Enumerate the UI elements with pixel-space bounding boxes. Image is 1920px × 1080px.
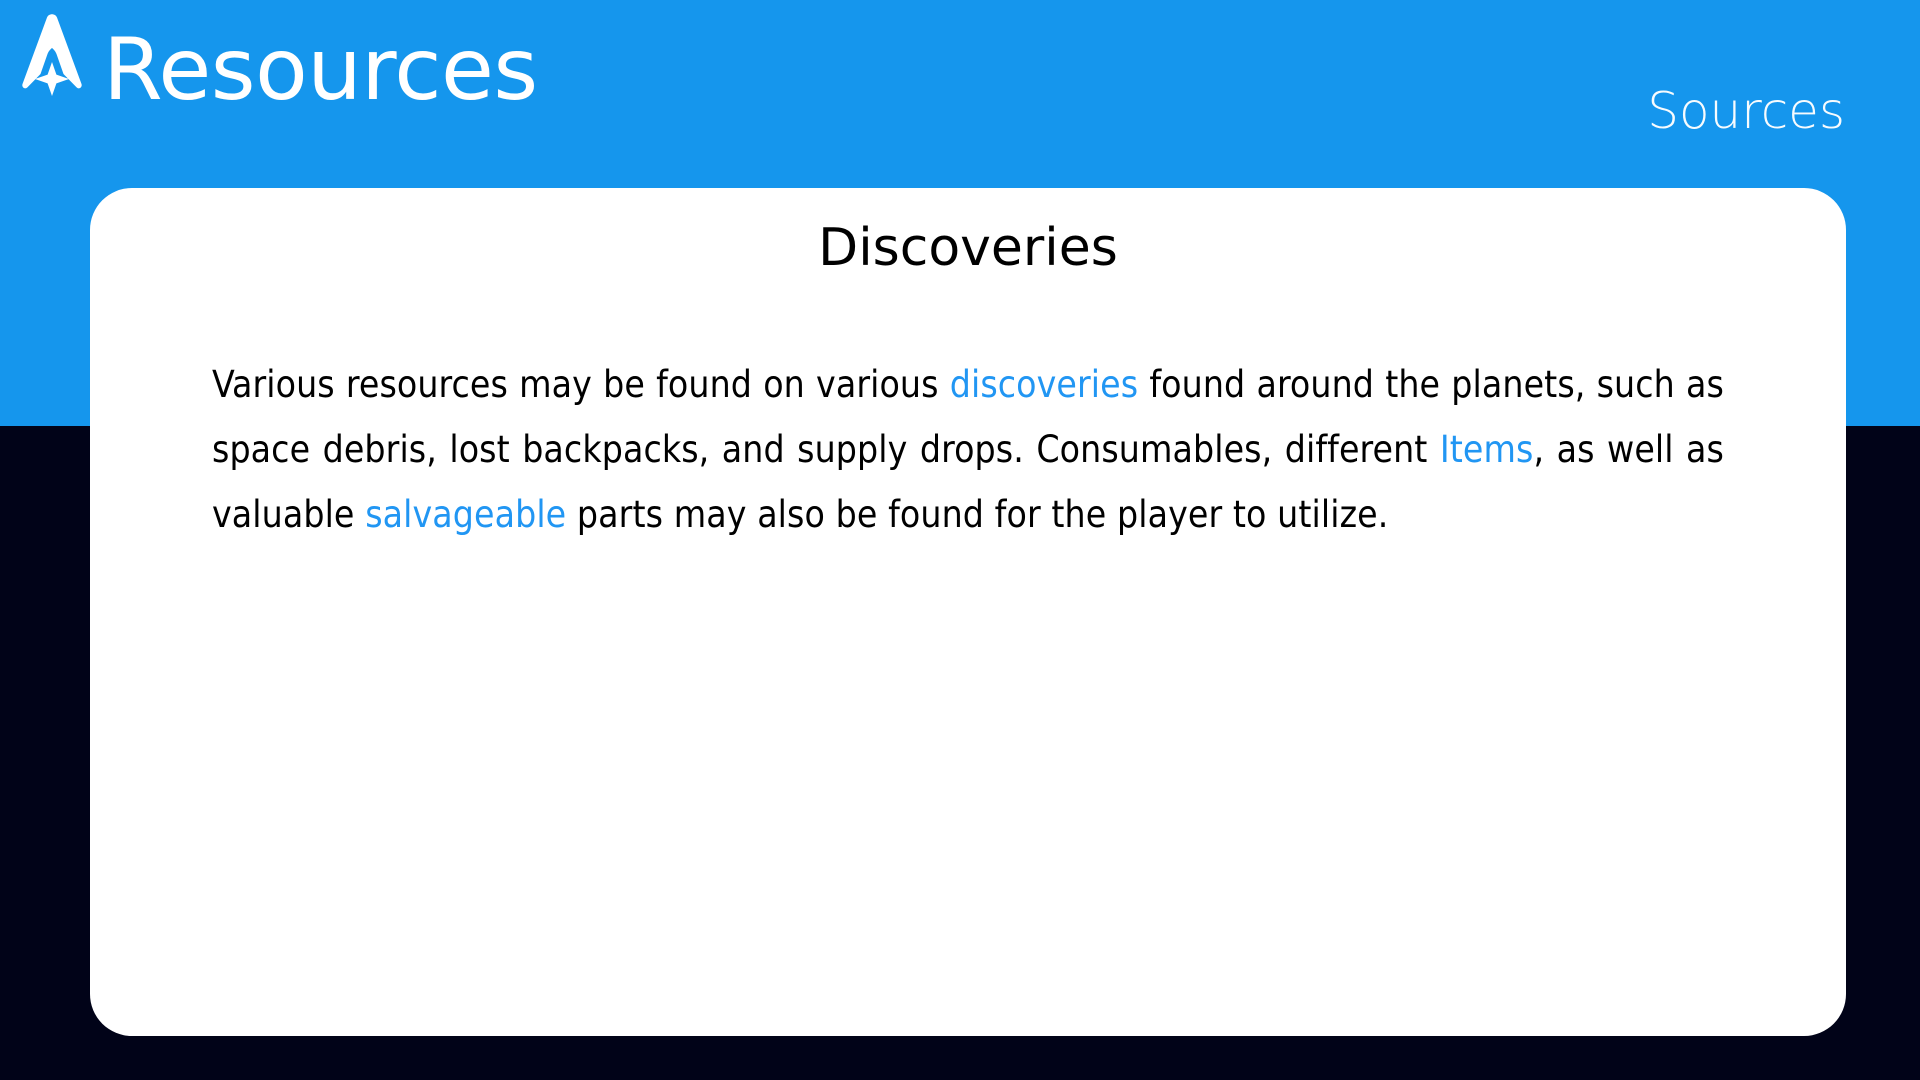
body-text-run: parts may also be found for the player t…	[566, 493, 1388, 536]
rocket-sparkle-logo-icon[interactable]	[14, 12, 90, 96]
sources-label[interactable]: Sources	[1647, 82, 1845, 140]
page-title: Resources	[103, 18, 538, 122]
card-title: Discoveries	[122, 212, 1814, 284]
link-salvageable[interactable]: salvageable	[365, 493, 566, 536]
link-items[interactable]: Items	[1440, 428, 1534, 471]
card-body-text: Various resources may be found on variou…	[212, 352, 1724, 547]
body-text-run: Various resources may be found on variou…	[212, 363, 950, 406]
link-discoveries[interactable]: discoveries	[950, 363, 1138, 406]
content-card: Discoveries Various resources may be fou…	[90, 188, 1846, 1036]
page-root: Resources Sources Discoveries Various re…	[0, 0, 1920, 1080]
